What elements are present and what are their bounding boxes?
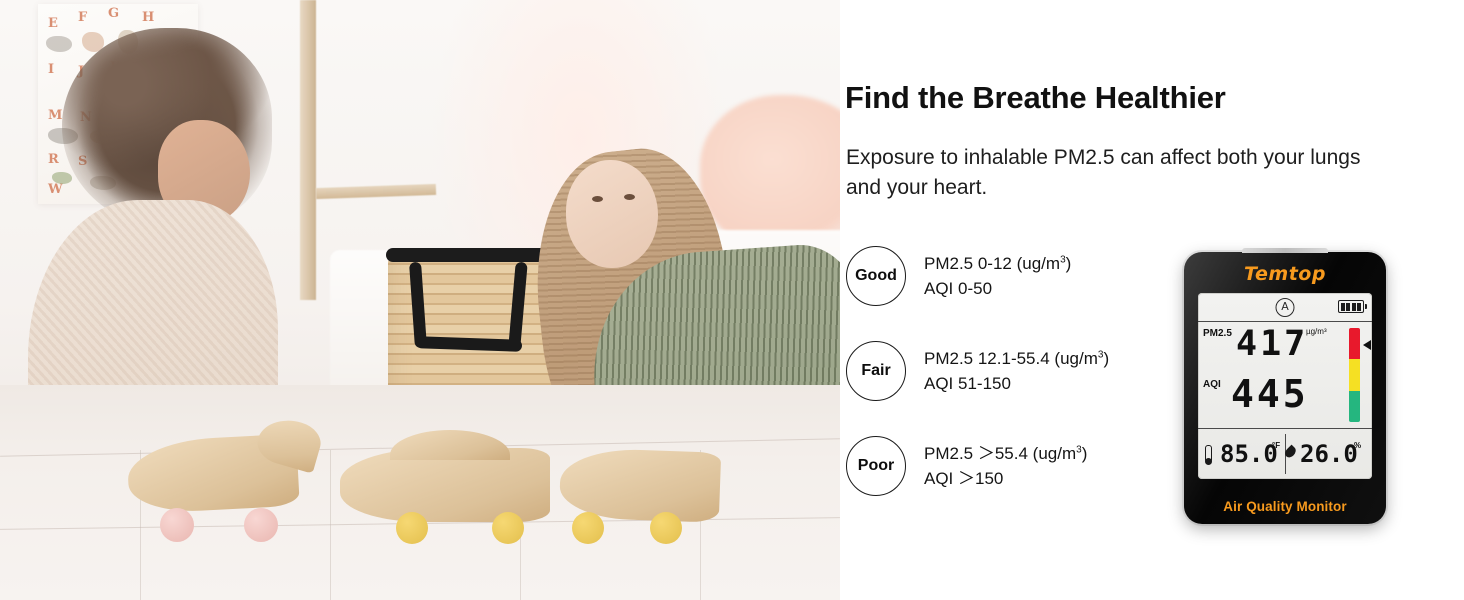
legend-aqi-line-fair: AQI 51-150 [924, 371, 1109, 397]
device-top-edge [1242, 248, 1328, 253]
legend-pm-line-fair: PM2.5 12.1-55.4 (ug/m3) [924, 346, 1109, 372]
status-badge-fair: Fair [846, 341, 906, 401]
colorbar-good-segment [1349, 391, 1360, 422]
battery-icon [1338, 300, 1364, 313]
lifestyle-photo: E F G H I J K L M N O R S W [0, 0, 840, 600]
legend-pm-value-good: PM2.5 0-12 (ug/m [924, 254, 1060, 273]
humidity-value: 26.0 [1300, 440, 1358, 468]
humidity-unit: % [1354, 441, 1361, 450]
legend-text-fair: PM2.5 12.1-55.4 (ug/m3) AQI 51-150 [924, 346, 1109, 397]
auto-mode-icon: A [1276, 298, 1295, 317]
colorbar-pointer-icon [1363, 340, 1371, 350]
aqi-label: AQI [1203, 379, 1221, 390]
girl-eye-right [624, 194, 635, 200]
dino-wheel-center-1 [396, 512, 428, 544]
air-quality-legend: Good PM2.5 0-12 (ug/m3) AQI 0-50 Fair PM… [846, 247, 1206, 532]
thermometer-icon [1205, 445, 1212, 463]
legend-row-poor: Poor PM2.5 ＞55.4 (ug/m3) AQI ＞150 [846, 437, 1206, 495]
promo-banner: E F G H I J K L M N O R S W [0, 0, 1464, 600]
girl-eye-left [592, 196, 603, 202]
page-title: Find the Breathe Healthier [845, 80, 1226, 116]
air-quality-monitor-device: Temtop A PM2.5 µg/m³ 417 AQI 445 [1184, 252, 1386, 524]
legend-pm-line-good: PM2.5 0-12 (ug/m3) [924, 251, 1071, 277]
legend-aqi-line-poor: AQI ＞150 [924, 466, 1087, 492]
lcd-screen: A PM2.5 µg/m³ 417 AQI 445 [1198, 293, 1372, 479]
dino-wheel-left-1 [160, 508, 194, 542]
legend-row-good: Good PM2.5 0-12 (ug/m3) AQI 0-50 [846, 247, 1206, 305]
air-quality-colorbar [1349, 328, 1360, 422]
dino-wheel-right-1 [572, 512, 604, 544]
legend-pm-value-poor: PM2.5 ＞55.4 (ug/m [924, 444, 1076, 463]
dino-wheel-right-2 [650, 512, 682, 544]
temperature-unit: °F [1272, 441, 1280, 450]
girl-face [566, 160, 658, 268]
lcd-status-bar: A [1198, 293, 1372, 322]
pm25-label: PM2.5 [1203, 328, 1232, 339]
legend-pm-close-poor: ) [1082, 444, 1088, 463]
wooden-frame-pole [300, 0, 316, 300]
dino-wheel-left-2 [244, 508, 278, 542]
lcd-readings: PM2.5 µg/m³ 417 AQI 445 [1198, 322, 1372, 429]
legend-pm-line-poor: PM2.5 ＞55.4 (ug/m3) [924, 441, 1087, 467]
legend-aqi-line-good: AQI 0-50 [924, 276, 1071, 302]
legend-pm-close-good: ) [1066, 254, 1072, 273]
legend-pm-value-fair: PM2.5 12.1-55.4 (ug/m [924, 349, 1098, 368]
legend-row-fair: Fair PM2.5 12.1-55.4 (ug/m3) AQI 51-150 [846, 342, 1206, 400]
legend-pm-close-fair: ) [1103, 349, 1109, 368]
colorbar-poor-segment [1349, 328, 1360, 359]
temperature-value: 85.0 [1220, 440, 1278, 468]
dino-wheel-center-2 [492, 512, 524, 544]
legend-text-poor: PM2.5 ＞55.4 (ug/m3) AQI ＞150 [924, 441, 1087, 492]
subtitle-text: Exposure to inhalable PM2.5 can affect b… [846, 143, 1376, 203]
aqi-value: 445 [1231, 372, 1309, 416]
device-footer-label: Air Quality Monitor [1184, 499, 1386, 514]
pm25-value: 417 [1236, 324, 1308, 364]
lcd-climate-row: 85.0 °F 26.0 % [1198, 429, 1372, 479]
status-badge-poor: Poor [846, 436, 906, 496]
pm25-unit-label: µg/m³ [1306, 327, 1327, 336]
legend-text-good: PM2.5 0-12 (ug/m3) AQI 0-50 [924, 251, 1071, 302]
colorbar-fair-segment [1349, 359, 1360, 390]
brand-logo: Temtop [1184, 263, 1386, 285]
status-badge-good: Good [846, 246, 906, 306]
